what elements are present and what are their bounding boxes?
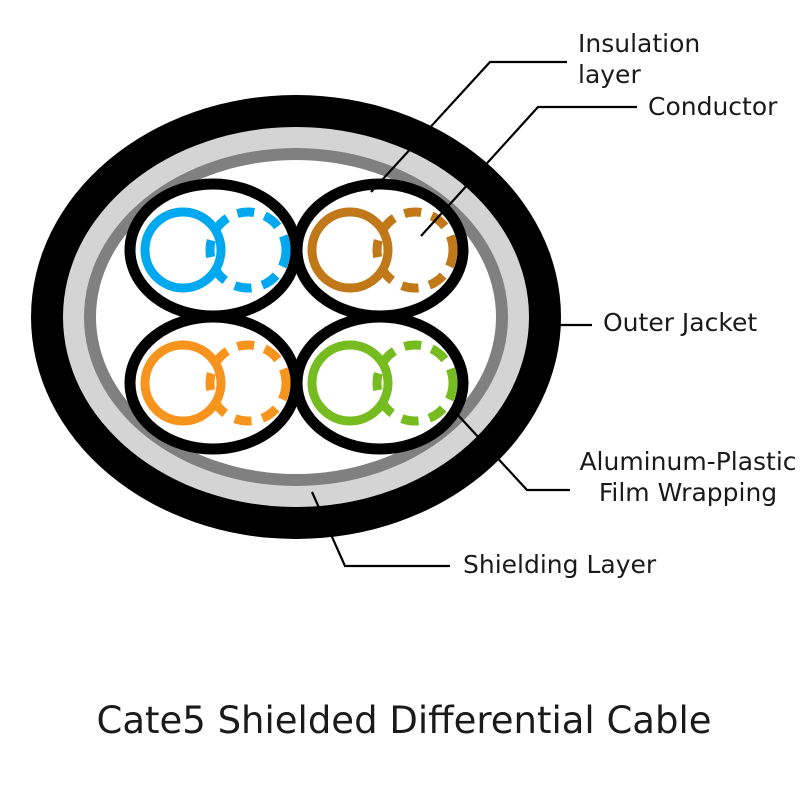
cable-layers-group: [31, 95, 561, 539]
figure-title: Cate5 Shielded Differential Cable: [96, 699, 711, 742]
twisted-pair-blue: [130, 184, 296, 316]
label-insulation-layer-line1: Insulation: [578, 29, 700, 58]
cable-cross-section-diagram: Insulation layer Conductor Outer Jacket …: [0, 0, 800, 800]
label-conductor: Conductor: [648, 92, 778, 121]
label-aluminum-film-line1: Aluminum-Plastic: [579, 447, 796, 476]
twisted-pair-green: [297, 317, 463, 449]
twisted-pair-brown: [297, 184, 463, 316]
label-shielding-layer: Shielding Layer: [463, 550, 657, 579]
diagram-stage: Insulation layer Conductor Outer Jacket …: [0, 0, 800, 800]
label-insulation-layer-line2: layer: [578, 60, 641, 89]
label-outer-jacket: Outer Jacket: [603, 308, 757, 337]
label-aluminum-film-line2: Film Wrapping: [599, 478, 777, 507]
twisted-pair-orange: [130, 317, 296, 449]
